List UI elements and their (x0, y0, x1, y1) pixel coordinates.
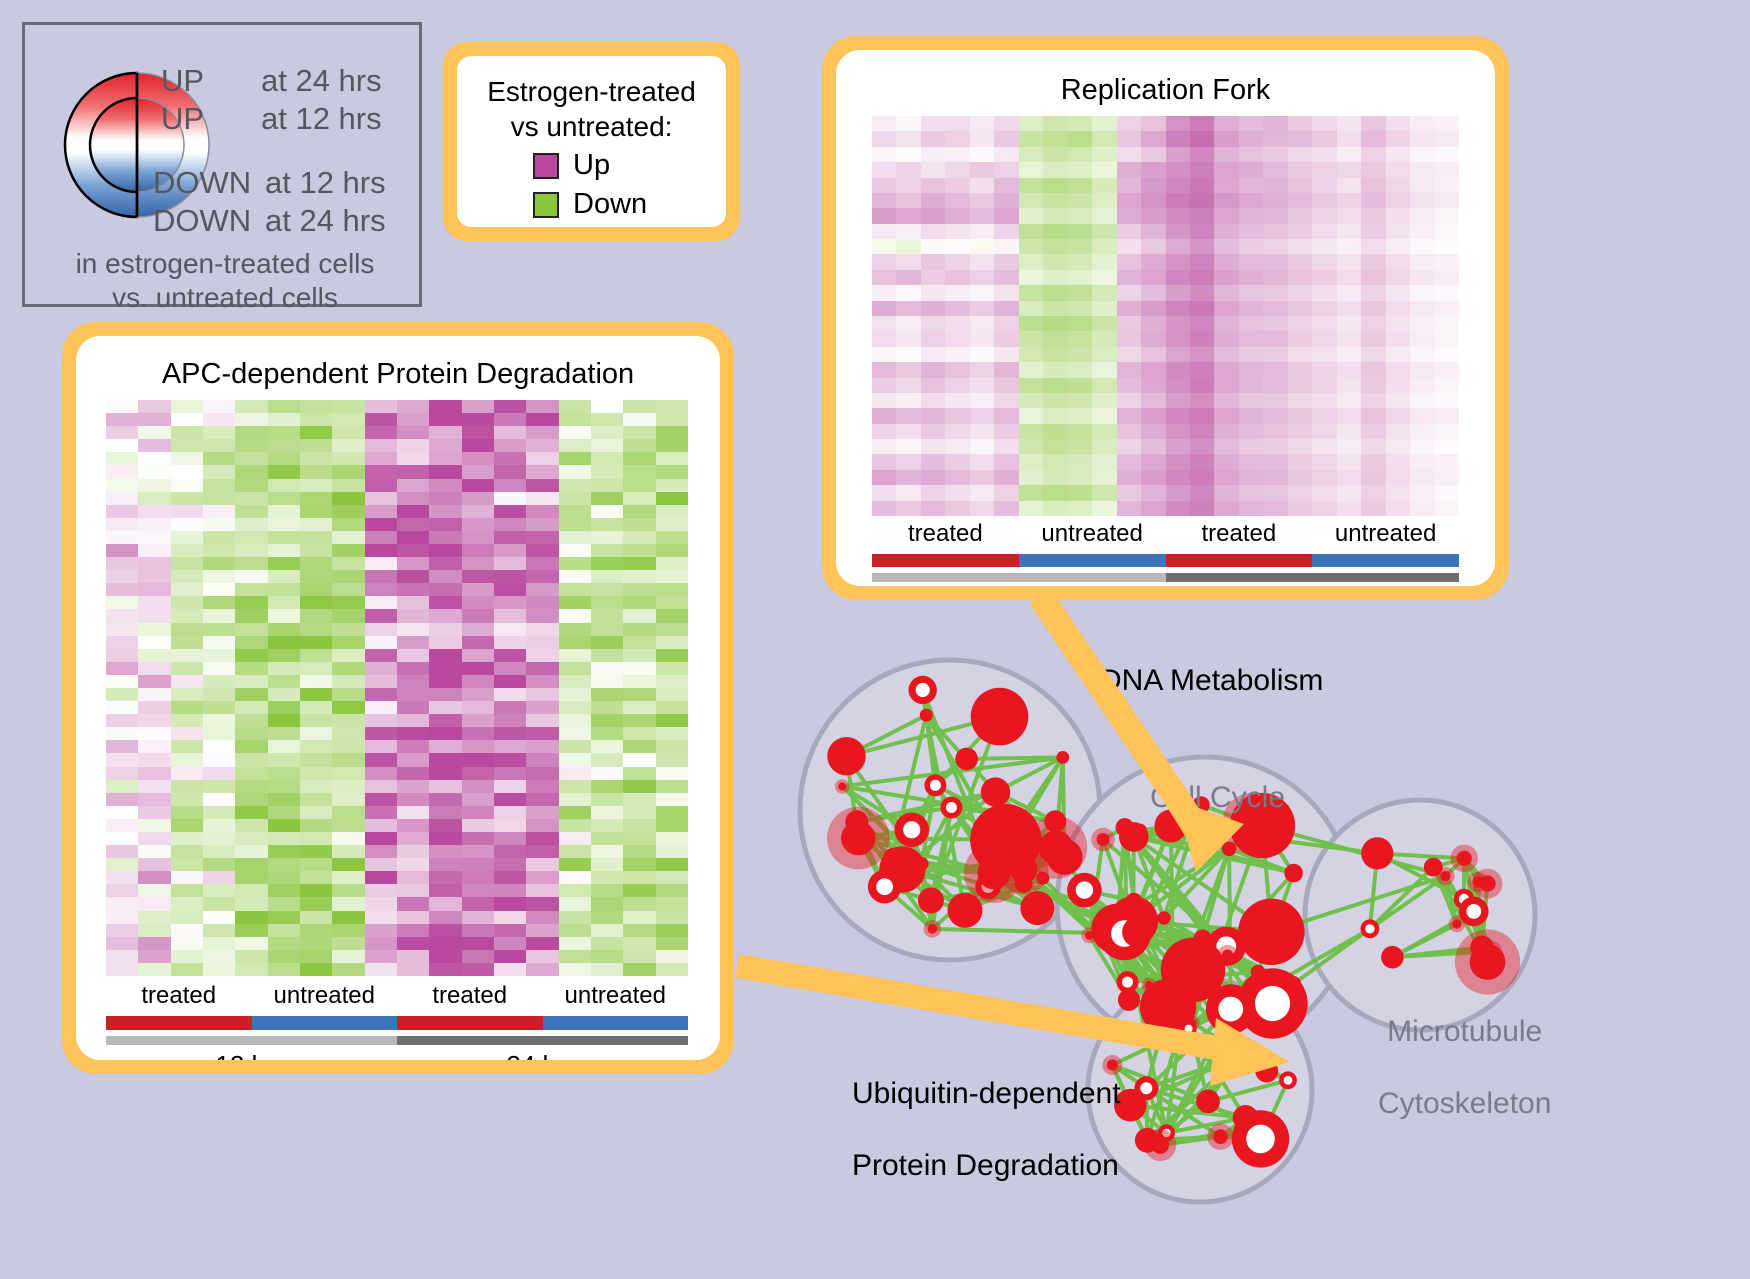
key-label-up: Up (573, 149, 610, 182)
cluster-label-dna-metabolism: DNA Metabolism (1100, 663, 1323, 699)
apc-time-bar (106, 1036, 688, 1045)
network-node (1479, 875, 1495, 891)
network-node (1457, 851, 1472, 866)
network-node (1222, 842, 1237, 857)
replication-fork-inner: Replication Fork treated untreated treat… (836, 50, 1495, 586)
apc-group-label-1: untreated (252, 982, 398, 1010)
network-node (946, 802, 957, 813)
network-node (1076, 881, 1093, 898)
legend-state-3: DOWN (153, 203, 251, 239)
legend-footer: in estrogen-treated cells vs. untreated … (25, 247, 425, 315)
network-node (1157, 911, 1170, 924)
network-node (1255, 986, 1290, 1021)
cluster-label-ubiquitin-line2: Protein Degradation (852, 1148, 1121, 1184)
legend-time-0: at 24 hrs (261, 63, 382, 99)
updown-key-title-line1: Estrogen-treated (457, 74, 726, 109)
network-node (1452, 919, 1461, 928)
network-node (1135, 1128, 1160, 1153)
network-node (1196, 1090, 1220, 1114)
network-node (1140, 1082, 1152, 1094)
apc-treatment-bar (106, 1016, 688, 1030)
rf-group-label-0: treated (872, 520, 1019, 548)
replication-fork-heatmap (872, 116, 1459, 516)
network-node (876, 878, 893, 895)
network-node (1020, 891, 1054, 925)
up-swatch-icon (533, 153, 559, 179)
legend-state-2: DOWN (153, 165, 251, 201)
network-node (1134, 824, 1147, 837)
network-node (971, 688, 1029, 746)
network-node (827, 737, 865, 775)
apc-panel: APC-dependent Protein Degradation treate… (62, 322, 734, 1074)
network-node (1466, 904, 1481, 919)
network-node (928, 924, 938, 934)
apc-time-label-0: 12 hrs (106, 1050, 397, 1060)
legend-footer-line1: in estrogen-treated cells (25, 247, 425, 281)
network-node (1097, 833, 1110, 846)
network-node (1056, 751, 1069, 764)
network-node (1118, 989, 1140, 1011)
network-node (841, 821, 875, 855)
network-node (916, 683, 930, 697)
replication-fork-time-bar (872, 573, 1459, 582)
network-node (903, 821, 920, 838)
network-node (1036, 872, 1049, 885)
replication-fork-panel: Replication Fork treated untreated treat… (822, 36, 1509, 600)
network-node (1255, 1060, 1278, 1083)
cluster-label-microtubule-line2: Cytoskeleton (1378, 1086, 1551, 1122)
network-node (1284, 864, 1303, 883)
network-node (977, 856, 1010, 889)
cluster-label-ubiquitin-line1: Ubiquitin-dependent (852, 1076, 1121, 1112)
network-node (1365, 924, 1374, 933)
updown-key-title-line2: vs untreated: (457, 109, 726, 144)
apc-title: APC-dependent Protein Degradation (76, 358, 720, 391)
cluster-label-microtubule: Microtubule Cytoskeleton (1378, 978, 1551, 1158)
apc-heatmap (106, 400, 688, 976)
key-item-up: Up (533, 149, 610, 182)
legend-time-3: at 24 hrs (265, 203, 386, 239)
apc-inner: APC-dependent Protein Degradation treate… (76, 336, 720, 1060)
network-node (930, 780, 941, 791)
figure-canvas: UP at 24 hrs UP at 12 hrs DOWN at 12 hrs… (0, 0, 1750, 1279)
network-node (1126, 893, 1143, 910)
network-node (1213, 1129, 1228, 1144)
rf-group-label-1: untreated (1019, 520, 1166, 548)
network-node (1284, 976, 1301, 993)
network-node (955, 748, 978, 771)
network-node (1122, 917, 1152, 947)
network-node (918, 888, 944, 914)
down-swatch-icon (533, 192, 559, 218)
network-node (1222, 950, 1233, 961)
apc-group-label-0: treated (106, 982, 252, 1010)
network-node (1039, 830, 1073, 864)
cluster-label-cell-cycle: Cell Cycle (1150, 780, 1285, 816)
legend-time-1: at 12 hrs (261, 101, 382, 137)
legend-state-0: UP (161, 63, 204, 99)
network-node (1238, 899, 1304, 965)
rf-group-label-3: untreated (1312, 520, 1459, 548)
legend-time-2: at 12 hrs (265, 165, 386, 201)
apc-time-labels: 12 hrs 24 hrs (106, 1050, 688, 1060)
replication-fork-group-labels: treated untreated treated untreated (872, 520, 1459, 548)
apc-group-label-3: untreated (543, 982, 689, 1010)
cluster-label-microtubule-line1: Microtubule (1378, 1014, 1551, 1050)
network-node (1470, 944, 1506, 980)
key-item-down: Down (533, 188, 647, 221)
replication-fork-treatment-bar (872, 554, 1459, 567)
cluster-label-ubiquitin: Ubiquitin-dependent Protein Degradation (852, 1040, 1121, 1220)
colorwheel-legend-box: UP at 24 hrs UP at 12 hrs DOWN at 12 hrs… (22, 22, 422, 307)
network-node (948, 893, 983, 928)
network-node (838, 782, 846, 790)
rf-group-label-2: treated (1166, 520, 1313, 548)
network-node (1284, 1076, 1293, 1085)
apc-group-label-2: treated (397, 982, 543, 1010)
updown-key-inner: Estrogen-treated vs untreated: Up Down (457, 56, 726, 227)
network-node (1220, 1038, 1257, 1075)
network-node (1361, 837, 1393, 869)
network-node (1246, 1125, 1275, 1154)
network-node (1381, 946, 1404, 969)
network-node (1440, 871, 1450, 881)
network-node (1218, 997, 1243, 1022)
legend-footer-line2: vs. untreated cells (25, 281, 425, 315)
apc-group-labels: treated untreated treated untreated (106, 982, 688, 1010)
replication-fork-title: Replication Fork (836, 74, 1495, 107)
network-node (1185, 1025, 1193, 1033)
apc-time-label-1: 24 hrs (397, 1050, 688, 1060)
updown-key-panel: Estrogen-treated vs untreated: Up Down (443, 42, 740, 241)
updown-key-title: Estrogen-treated vs untreated: (457, 74, 726, 144)
legend-state-1: UP (161, 101, 204, 137)
key-label-down: Down (573, 188, 647, 221)
network-node (1122, 977, 1133, 988)
network-node (981, 777, 1010, 806)
network-node (920, 709, 933, 722)
